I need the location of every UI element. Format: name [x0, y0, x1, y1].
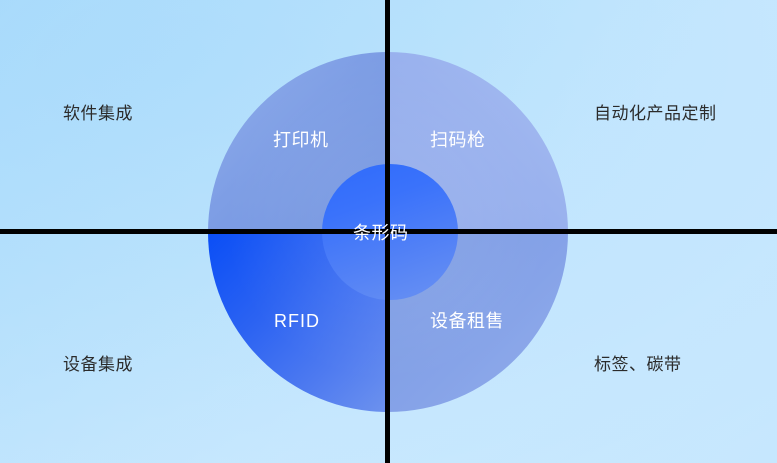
ring-label-scanner: 扫码枪 — [430, 131, 486, 149]
ring-label-rfid: RFID — [274, 312, 320, 330]
ring-label-printer: 打印机 — [273, 131, 329, 149]
diagram-canvas: 打印机 扫码枪 RFID 设备租售 条形码 软件集成 自动化产品定制 设备集成 … — [0, 0, 777, 463]
center-label-barcode: 条形码 — [353, 224, 409, 242]
ring-label-rental: 设备租售 — [430, 312, 504, 330]
outer-label-labels-ribbons: 标签、碳带 — [594, 356, 682, 373]
outer-label-software-integration: 软件集成 — [63, 105, 133, 122]
outer-label-automation-customization: 自动化产品定制 — [594, 105, 717, 122]
outer-label-equipment-integration: 设备集成 — [63, 356, 133, 373]
